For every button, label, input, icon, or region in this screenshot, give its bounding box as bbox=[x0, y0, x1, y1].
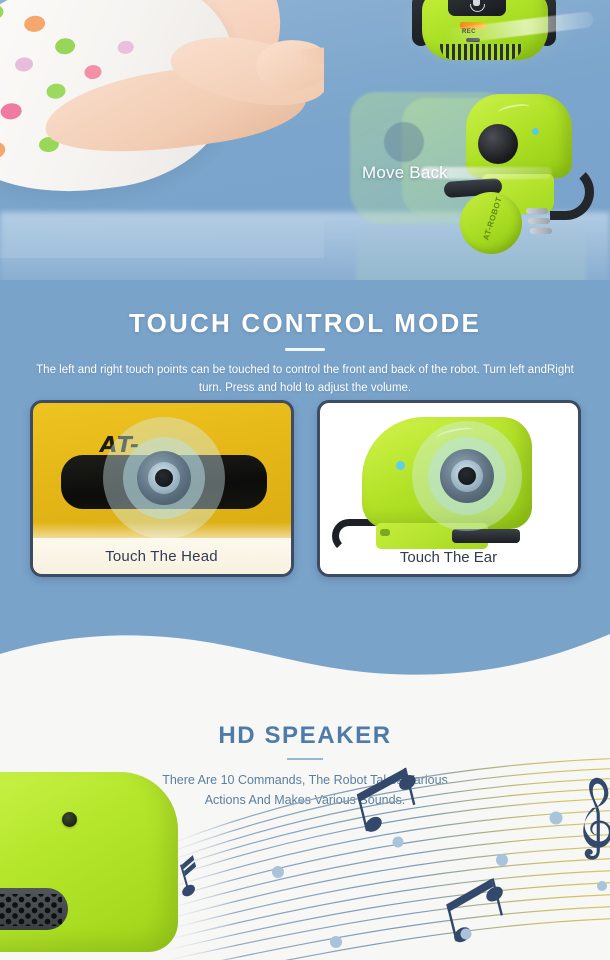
robot-front-view: REC bbox=[398, 0, 578, 68]
touch-control-title: TOUCH CONTROL MODE bbox=[0, 280, 610, 339]
robot-mouth-grille bbox=[440, 44, 522, 60]
robot-rear-view bbox=[0, 772, 178, 952]
robot-connector-pins bbox=[526, 208, 568, 238]
robot-base bbox=[452, 529, 520, 543]
title-divider bbox=[285, 348, 325, 351]
description-line-1: The left and right touch points can be t… bbox=[36, 364, 480, 376]
robot-port bbox=[380, 529, 390, 536]
card-caption: Touch The Ear bbox=[320, 549, 578, 566]
card-touch-the-ear[interactable]: Touch The Ear bbox=[317, 400, 581, 577]
product-detail-page: REC AT-ROBOT Move bbox=[0, 0, 610, 960]
hd-speaker-title: HD SPEAKER bbox=[0, 680, 610, 750]
hd-speaker-section: HD SPEAKER There Are 10 Commands, The Ro… bbox=[0, 680, 610, 960]
hero-section: REC AT-ROBOT Move bbox=[0, 0, 610, 300]
robot-cable bbox=[332, 519, 376, 553]
robot-indicator-dot bbox=[396, 461, 405, 470]
move-back-label: Move Back bbox=[362, 163, 448, 183]
touch-point bbox=[155, 469, 173, 487]
touch-control-description: The left and right touch points can be t… bbox=[0, 362, 610, 398]
touch-point bbox=[458, 467, 476, 485]
speaker-holes bbox=[0, 894, 62, 926]
robot-indicator-dot bbox=[532, 128, 539, 135]
music-notes bbox=[150, 756, 610, 960]
card-caption-bar: Touch The Head bbox=[33, 538, 291, 574]
card-caption: Touch The Head bbox=[105, 548, 218, 565]
robot-eye bbox=[478, 124, 518, 164]
card-touch-the-head[interactable]: AT-ROBOT Touch The Head bbox=[30, 400, 294, 577]
robot-screw bbox=[62, 812, 77, 827]
speaker-grille bbox=[0, 888, 68, 930]
card-sheen bbox=[33, 522, 291, 538]
touch-cards: AT-ROBOT Touch The Head bbox=[0, 400, 610, 577]
microphone-icon bbox=[473, 0, 480, 6]
robot-ghost-eye bbox=[384, 122, 424, 162]
